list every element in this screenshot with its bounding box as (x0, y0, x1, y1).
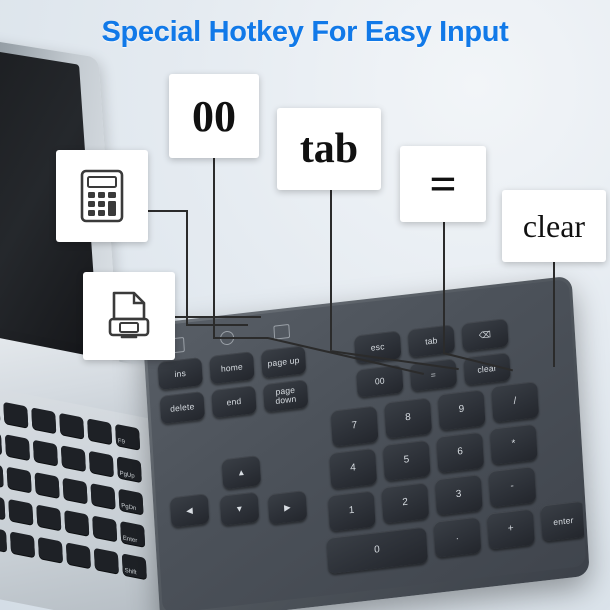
key-plus[interactable]: + (487, 509, 535, 550)
key-arrow-left[interactable]: ◀ (170, 493, 210, 527)
key-num6[interactable]: 6 (436, 432, 484, 473)
laptop-key (31, 407, 56, 433)
callout-card-tab: tab (277, 108, 381, 190)
key-num3[interactable]: 3 (435, 474, 483, 515)
laptop-key-pgup: PgUp (117, 456, 142, 482)
product-image: F9 PgUp PgDn Enter (0, 0, 610, 610)
key-divide[interactable]: / (491, 381, 539, 422)
numeric-keypad: ins home page up esc tab ⌫ delete end pa… (142, 276, 590, 610)
key-double-zero[interactable]: 00 (356, 364, 403, 397)
laptop-key-f9: F9 (115, 424, 140, 450)
connector-line-clear (553, 262, 555, 367)
key-minus[interactable]: - (488, 466, 536, 507)
laptop-key (10, 531, 35, 557)
callout-label-clear: clear (523, 208, 585, 245)
key-page-up[interactable]: page up (261, 345, 306, 378)
keypad-face: ins home page up esc tab ⌫ delete end pa… (145, 279, 586, 610)
connector-line-tab (330, 190, 332, 350)
laptop-key (90, 483, 115, 509)
laptop-key (36, 504, 61, 530)
key-num9[interactable]: 9 (438, 389, 486, 430)
key-num5[interactable]: 5 (383, 440, 431, 481)
laptop-key (61, 445, 86, 471)
laptop-key (0, 493, 5, 519)
laptop-key (3, 402, 28, 428)
callout-card-calculator (56, 150, 148, 242)
key-ins[interactable]: ins (158, 357, 203, 390)
laptop-key (87, 418, 112, 444)
key-dot[interactable]: . (433, 517, 481, 558)
laptop-key (0, 429, 2, 455)
connector-line-calculator-2 (186, 210, 188, 325)
laptop-key (59, 413, 84, 439)
callout-label-double-zero: 00 (192, 91, 236, 142)
laptop-key (0, 461, 4, 487)
key-end[interactable]: end (211, 385, 256, 418)
key-num7[interactable]: 7 (331, 406, 379, 447)
connector-line-equals (443, 222, 445, 352)
callout-card-equals: = (400, 146, 486, 222)
callout-card-clear: clear (502, 190, 606, 262)
connector-line-screenshot (175, 316, 261, 318)
laptop-key (94, 548, 119, 574)
screenshot-icon (273, 324, 290, 340)
laptop-key (7, 467, 32, 493)
calculator-icon (79, 168, 125, 224)
laptop-key (35, 472, 60, 498)
callout-card-screenshot (83, 272, 175, 360)
callout-card-double-zero: 00 (169, 74, 259, 158)
laptop-key (92, 515, 117, 541)
key-backspace[interactable]: ⌫ (461, 318, 508, 351)
key-home[interactable]: home (209, 351, 254, 384)
callout-label-equals: = (429, 157, 456, 212)
key-num1[interactable]: 1 (328, 490, 376, 531)
laptop-key-pgdn: PgDn (118, 489, 143, 515)
key-multiply[interactable]: * (490, 424, 538, 465)
page-title: Special Hotkey For Easy Input (0, 16, 610, 49)
key-arrow-down[interactable]: ▼ (220, 492, 260, 526)
key-page-down[interactable]: page down (263, 379, 308, 412)
laptop-key (33, 440, 58, 466)
key-arrow-right[interactable]: ▶ (268, 490, 308, 524)
key-num8[interactable]: 8 (384, 397, 432, 438)
key-delete[interactable]: delete (160, 391, 205, 424)
key-num2[interactable]: 2 (381, 482, 429, 523)
connector-line-00-2 (213, 337, 268, 339)
laptop-key (38, 537, 63, 563)
laptop-key-enter: Enter (120, 521, 145, 547)
laptop-key (63, 478, 88, 504)
laptop-key-shift: Shift (122, 553, 147, 579)
key-num0[interactable]: 0 (326, 527, 428, 574)
laptop-key (89, 451, 114, 477)
connector-line-calculator-3 (186, 324, 248, 326)
laptop-key (0, 526, 7, 552)
screenshot-icon (104, 289, 154, 343)
connector-line-calculator (148, 210, 188, 212)
laptop-key (8, 499, 33, 525)
callout-label-tab: tab (300, 125, 358, 173)
key-arrow-up[interactable]: ▲ (222, 455, 262, 489)
key-enter[interactable]: enter (540, 501, 586, 542)
laptop-key (64, 510, 89, 536)
connector-line-00 (213, 158, 215, 338)
laptop-key (66, 542, 91, 568)
key-num4[interactable]: 4 (329, 448, 377, 489)
laptop-key (5, 434, 30, 460)
